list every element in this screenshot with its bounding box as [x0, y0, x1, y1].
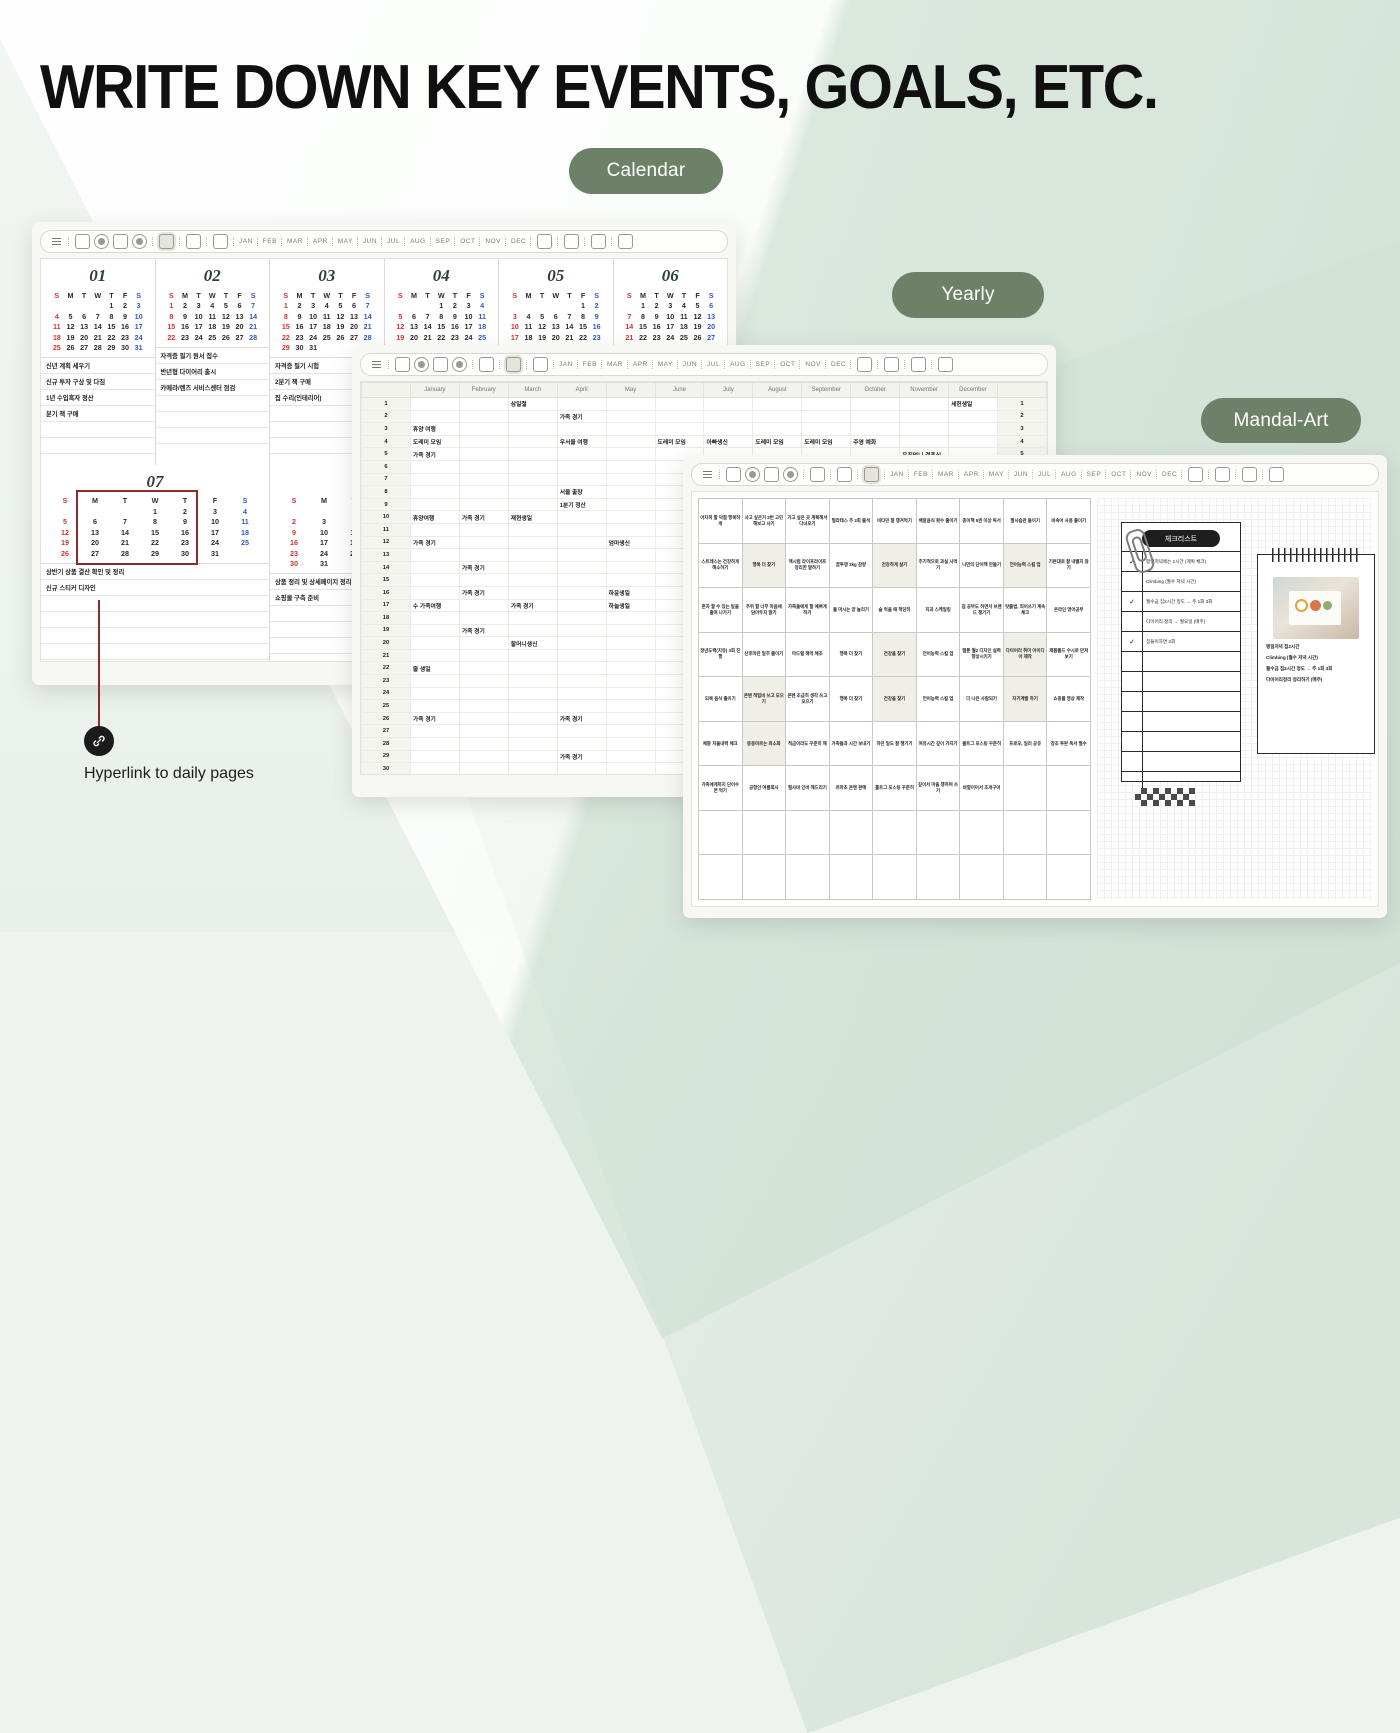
mandal-cell[interactable] — [830, 855, 874, 900]
yearly-cell[interactable]: 가족 경기 — [410, 712, 459, 725]
calendar-day[interactable] — [64, 301, 78, 312]
calendar-day[interactable]: 3 — [192, 301, 206, 312]
mandal-cell[interactable] — [786, 855, 830, 900]
checklist-checkmark[interactable]: ✓ — [1122, 592, 1143, 611]
yearly-cell[interactable] — [459, 523, 508, 536]
calendar-day[interactable]: 23 — [170, 538, 200, 549]
calendar-note-row[interactable] — [156, 412, 270, 428]
calendar-day[interactable]: 20 — [80, 538, 110, 549]
calendar-day[interactable]: 16 — [118, 322, 132, 333]
yearly-cell[interactable] — [557, 460, 606, 473]
calendar-day[interactable]: 19 — [394, 332, 408, 343]
yearly-cell[interactable] — [557, 675, 606, 688]
yearly-cell[interactable] — [459, 725, 508, 738]
calendar-day[interactable]: 1 — [165, 301, 179, 312]
calendar-day[interactable]: 28 — [246, 332, 260, 343]
checklist-checkmark[interactable] — [1122, 572, 1143, 591]
toolbar-month-may[interactable]: MAY — [657, 361, 674, 368]
calendar-day[interactable]: 21 — [110, 538, 140, 549]
calendar-note-row[interactable]: 카메라/렌즈 서비스센터 점검 — [156, 380, 270, 396]
calendar-day[interactable]: 17 — [663, 322, 677, 333]
calendar-day[interactable]: 13 — [233, 311, 247, 322]
calendar-day[interactable] — [563, 301, 577, 312]
calendar-day[interactable]: 2 — [279, 517, 309, 528]
yearly-cell[interactable] — [459, 486, 508, 499]
mandal-cell[interactable]: 탭툰 월2 디자인 실력 향상시키기 — [960, 633, 1004, 678]
yearly-cell[interactable]: 가족 경기 — [410, 448, 459, 461]
calendar-day[interactable]: 14 — [91, 322, 105, 333]
check-square-icon[interactable] — [395, 357, 410, 372]
yearly-cell[interactable] — [459, 649, 508, 662]
calendar-day[interactable]: 7 — [246, 301, 260, 312]
mandal-cell[interactable]: 꿈투쟁 3kg 감량 — [830, 544, 874, 589]
mandal-cell[interactable]: 가족들과 시간 보내기 — [830, 722, 874, 767]
yearly-cell[interactable] — [949, 423, 998, 436]
calendar-day[interactable]: 4 — [230, 506, 260, 517]
calendar-day[interactable]: 21 — [563, 332, 577, 343]
checklist-row[interactable] — [1122, 651, 1240, 671]
calendar-day[interactable]: 13 — [704, 311, 718, 322]
calendar-day[interactable] — [110, 506, 140, 517]
calendar-day[interactable]: 30 — [279, 559, 309, 570]
calendar-day[interactable] — [522, 301, 536, 312]
calendar-day[interactable]: 10 — [132, 311, 146, 322]
mandal-cell[interactable]: 스트레스는 건강하게 해소하기 — [699, 544, 743, 589]
toolbar-month-aug[interactable]: AUG — [409, 238, 427, 245]
calendar-day[interactable]: 2 — [118, 301, 132, 312]
yearly-cell[interactable] — [557, 473, 606, 486]
mandal-cell[interactable]: 가족들에게 할 예쁘게 하기 — [786, 588, 830, 633]
calendar-day[interactable]: 6 — [407, 311, 421, 322]
checklist-row[interactable] — [1122, 671, 1240, 691]
trash-icon[interactable] — [1269, 467, 1284, 482]
calendar-day[interactable]: 19 — [691, 322, 705, 333]
calendar-day[interactable]: 5 — [394, 311, 408, 322]
yearly-cell[interactable] — [459, 435, 508, 448]
calendar-day[interactable]: 30 — [170, 548, 200, 559]
checklist-row[interactable]: 다이어리 정리 → 월요일 (매주) — [1122, 611, 1240, 631]
calendar-day[interactable]: 24 — [200, 538, 230, 549]
yearly-cell[interactable] — [508, 574, 557, 587]
calendar-day[interactable]: 31 — [132, 343, 146, 354]
calendar-day[interactable]: 2 — [650, 301, 664, 312]
calendar-day[interactable]: 4 — [475, 301, 489, 312]
calendar-day[interactable]: 18 — [50, 332, 64, 343]
yearly-cell[interactable] — [606, 750, 655, 763]
calendar-day[interactable]: 10 — [306, 311, 320, 322]
yearly-cell[interactable] — [508, 410, 557, 423]
mandal-cell[interactable]: 행복 더 찾기 — [830, 633, 874, 678]
mandal-cell[interactable] — [960, 855, 1004, 900]
toolbar-month-may[interactable]: MAY — [337, 238, 354, 245]
calendar-day[interactable]: 5 — [535, 311, 549, 322]
yearly-cell[interactable] — [459, 410, 508, 423]
yearly-cell[interactable] — [410, 473, 459, 486]
calendar-day[interactable]: 3 — [309, 517, 339, 528]
share-icon[interactable] — [911, 357, 926, 372]
yearly-cell[interactable] — [704, 423, 753, 436]
note-icon[interactable] — [837, 467, 852, 482]
yearly-cell[interactable]: 가족 경기 — [508, 599, 557, 612]
calendar-note-row[interactable]: 자격증 필기 원서 접수 — [156, 348, 270, 364]
mandal-cell[interactable]: 온라인 영어공부 — [1047, 588, 1091, 633]
yearly-cell[interactable]: 가족 경기 — [459, 511, 508, 524]
calendar-day[interactable]: 21 — [91, 332, 105, 343]
yearly-cell[interactable]: 가족 경기 — [410, 536, 459, 549]
yearly-cell[interactable] — [851, 410, 900, 423]
mandal-cell[interactable]: 건강하게 살기 — [873, 544, 917, 589]
bag-icon[interactable] — [113, 234, 128, 249]
yearly-cell[interactable] — [459, 473, 508, 486]
yearly-cell[interactable] — [557, 536, 606, 549]
duplicate-icon[interactable] — [537, 234, 552, 249]
mandal-cell[interactable]: 언어능력 스킬 업 — [1004, 544, 1048, 589]
calendar-day[interactable]: 1 — [279, 301, 293, 312]
yearly-cell[interactable] — [410, 738, 459, 751]
toolbar-month-dec[interactable]: DEC — [830, 361, 847, 368]
toolbar-month-jan[interactable]: JAN — [558, 361, 574, 368]
check-square-icon[interactable] — [726, 467, 741, 482]
mandal-cell[interactable] — [786, 811, 830, 856]
yearly-cell[interactable] — [900, 410, 949, 423]
calendar-note-row[interactable]: 1년 수입흑자 정산 — [41, 390, 155, 406]
calendar-day[interactable]: 21 — [421, 332, 435, 343]
calendar-day[interactable]: 15 — [140, 527, 170, 538]
calendar-day[interactable]: 3 — [200, 506, 230, 517]
yearly-cell[interactable] — [459, 599, 508, 612]
mandal-art-document[interactable]: JANFEBMARAPRMAYJUNJULAUGSEPOCTNOVDEC 어차피… — [683, 455, 1387, 918]
calendar-day[interactable]: 24 — [462, 332, 476, 343]
yearly-cell[interactable] — [655, 423, 704, 436]
calendar-day[interactable]: 1 — [636, 301, 650, 312]
share-icon[interactable] — [591, 234, 606, 249]
mandal-cell[interactable] — [873, 855, 917, 900]
calendar-note-row[interactable] — [156, 428, 270, 444]
calendar-day[interactable]: 21 — [623, 332, 637, 343]
mandal-cell[interactable] — [1004, 811, 1048, 856]
yearly-cell[interactable] — [900, 423, 949, 436]
yearly-cell[interactable]: 1분기 정산 — [557, 498, 606, 511]
yearly-cell[interactable] — [508, 486, 557, 499]
calendar-day[interactable]: 4 — [677, 301, 691, 312]
calendar-day[interactable]: 22 — [140, 538, 170, 549]
calendar-day[interactable]: 18 — [677, 322, 691, 333]
calendar-day[interactable]: 9 — [170, 517, 200, 528]
checklist-checkmark[interactable] — [1122, 732, 1143, 751]
calendar-day[interactable]: 19 — [50, 538, 80, 549]
check-square-icon[interactable] — [75, 234, 90, 249]
calendar-icon[interactable] — [159, 234, 174, 249]
calendar-day[interactable]: 19 — [334, 322, 348, 333]
mandal-cell[interactable]: 건강을 찾기 — [873, 633, 917, 678]
yearly-cell[interactable]: 가족 경기 — [557, 712, 606, 725]
mandal-cell[interactable]: 행복 더 찾기 — [743, 544, 787, 589]
calendar-day[interactable]: 10 — [663, 311, 677, 322]
calendar-note-row[interactable]: 상반기 상품 결산 확인 및 정리 — [41, 564, 269, 580]
calendar-day[interactable]: 11 — [205, 311, 219, 322]
calendar-day[interactable]: 24 — [663, 332, 677, 343]
toolbar-month-sep[interactable]: SEP — [435, 238, 452, 245]
yearly-cell[interactable] — [753, 398, 802, 411]
toolbar-month-aug[interactable]: AUG — [1060, 471, 1078, 478]
calendar-day[interactable]: 16 — [590, 322, 604, 333]
calendar-day[interactable]: 6 — [77, 311, 91, 322]
yearly-cell[interactable] — [900, 435, 949, 448]
yearly-cell[interactable]: 세헌생일 — [949, 398, 998, 411]
yearly-cell[interactable] — [606, 687, 655, 700]
calendar-day[interactable]: 5 — [691, 301, 705, 312]
photo-note-card[interactable]: 평일저녁 집2시간Climbing (월수 저녁 시간)월수금 집2시간 정도 … — [1257, 554, 1375, 754]
yearly-cell[interactable] — [606, 523, 655, 536]
calendar-day[interactable]: 25 — [677, 332, 691, 343]
yearly-cell[interactable] — [410, 398, 459, 411]
yearly-cell[interactable]: 가족 경기 — [459, 586, 508, 599]
mandal-cell[interactable]: 비속어 사용 줄이기 — [1047, 499, 1091, 544]
yearly-cell[interactable] — [704, 410, 753, 423]
yearly-cell[interactable] — [557, 738, 606, 751]
yearly-cell[interactable] — [508, 763, 557, 775]
calendar-day[interactable]: 15 — [279, 322, 293, 333]
toolbar-month-apr[interactable]: APR — [312, 238, 329, 245]
calendar-day[interactable]: 13 — [347, 311, 361, 322]
toolbar-month-jul[interactable]: JUL — [1037, 471, 1052, 478]
trash-icon[interactable] — [618, 234, 633, 249]
calendar-day[interactable]: 20 — [77, 332, 91, 343]
yearly-cell[interactable] — [606, 423, 655, 436]
calendar-day[interactable]: 15 — [636, 322, 650, 333]
calendar-day[interactable]: 1 — [576, 301, 590, 312]
calendar-day[interactable]: 22 — [105, 332, 119, 343]
calendar-day[interactable]: 25 — [320, 332, 334, 343]
calendar-day[interactable]: 1 — [434, 301, 448, 312]
calendar-day[interactable]: 16 — [293, 322, 307, 333]
note-icon[interactable] — [186, 234, 201, 249]
toolbar-month-apr[interactable]: APR — [632, 361, 649, 368]
mandal-cell[interactable]: 탓줄법, 띄어쓰기 계속 체크 — [1004, 588, 1048, 633]
calendar-day[interactable]: 7 — [421, 311, 435, 322]
calendar-day[interactable]: 3 — [306, 301, 320, 312]
calendar-day[interactable]: 17 — [462, 322, 476, 333]
calendar-day[interactable]: 11 — [320, 311, 334, 322]
calendar-note-row[interactable]: 신규 스티커 디자인 — [41, 580, 269, 596]
mandal-cell[interactable]: 마드럴 해먹 체조 — [786, 633, 830, 678]
calendar-day[interactable]: 6 — [704, 301, 718, 312]
yearly-cell[interactable] — [851, 423, 900, 436]
yearly-toolbar[interactable]: JANFEBMARAPRMAYJUNJULAUGSEPOCTNOVDEC — [360, 353, 1048, 376]
toolbar-month-may[interactable]: MAY — [988, 471, 1005, 478]
yearly-cell[interactable]: 아빠생신 — [704, 435, 753, 448]
calendar-day[interactable]: 26 — [691, 332, 705, 343]
calendar-day[interactable]: 7 — [361, 301, 375, 312]
calendar-day[interactable] — [309, 506, 339, 517]
note-icon[interactable] — [506, 357, 521, 372]
calendar-day[interactable]: 13 — [407, 322, 421, 333]
calendar-day[interactable] — [77, 301, 91, 312]
mandal-cell[interactable]: 깊어서 마을 챙하여 쓰기 — [917, 766, 961, 811]
menu-icon[interactable] — [50, 235, 63, 248]
yearly-cell[interactable] — [606, 738, 655, 751]
yearly-cell[interactable] — [508, 498, 557, 511]
yearly-cell[interactable]: 휴양 여행 — [410, 423, 459, 436]
yearly-cell[interactable] — [459, 763, 508, 775]
yearly-cell[interactable] — [557, 612, 606, 625]
yearly-cell[interactable] — [410, 725, 459, 738]
calendar-day[interactable]: 24 — [192, 332, 206, 343]
calendar-day[interactable]: 15 — [576, 322, 590, 333]
mandal-cell[interactable]: 혼자 할 수 있는 일을 줄여 나가기 — [699, 588, 743, 633]
yearly-cell[interactable] — [606, 574, 655, 587]
calendar-day[interactable]: 26 — [50, 548, 80, 559]
calendar-day[interactable]: 30 — [293, 343, 307, 354]
calendar-day[interactable]: 27 — [347, 332, 361, 343]
calendar-day[interactable]: 11 — [475, 311, 489, 322]
yearly-cell[interactable] — [508, 473, 557, 486]
toolbar-month-jan[interactable]: JAN — [238, 238, 254, 245]
yearly-cell[interactable] — [508, 586, 557, 599]
mandal-cell[interactable]: 주위 할 너무 마음에 담아두지 말기 — [743, 588, 787, 633]
toolbar-month-jun[interactable]: JUN — [362, 238, 378, 245]
calendar-day[interactable]: 20 — [407, 332, 421, 343]
mandal-cell[interactable]: 필라테스 주 2회 출석 — [830, 499, 874, 544]
calendar-day[interactable] — [320, 343, 334, 354]
mandal-cell[interactable]: 여유시간 깊이 가지기 — [917, 722, 961, 767]
calendar-day[interactable]: 3 — [462, 301, 476, 312]
comment-icon[interactable] — [884, 357, 899, 372]
mandal-cell[interactable] — [917, 855, 961, 900]
calendar-day[interactable]: 16 — [170, 527, 200, 538]
calendar-day[interactable]: 10 — [508, 322, 522, 333]
checklist-row[interactable] — [1122, 731, 1240, 751]
calendar-day[interactable] — [80, 506, 110, 517]
mandal-cell[interactable]: 종이책 5권 이상 독서 — [960, 499, 1004, 544]
mandal-cell[interactable]: 물 마시는 양 늘리기 — [830, 588, 874, 633]
calendar-day[interactable]: 25 — [230, 538, 260, 549]
yearly-cell[interactable] — [557, 599, 606, 612]
calendar-day[interactable]: 9 — [650, 311, 664, 322]
yearly-cell[interactable] — [508, 536, 557, 549]
yearly-cell[interactable] — [557, 523, 606, 536]
calendar-day[interactable]: 18 — [522, 332, 536, 343]
yearly-cell[interactable] — [606, 549, 655, 562]
calendar-day[interactable]: 17 — [309, 538, 339, 549]
yearly-cell[interactable] — [557, 586, 606, 599]
calendar-note-row[interactable]: 분기 책 구매 — [41, 406, 155, 422]
mandal-cell[interactable]: 액시럼 라이프라이프 정리한 말하기 — [786, 544, 830, 589]
toolbar-month-aug[interactable]: AUG — [729, 361, 747, 368]
target-icon[interactable] — [132, 234, 147, 249]
calendar-note-row[interactable] — [41, 644, 269, 660]
calendar-day[interactable]: 9 — [178, 311, 192, 322]
calendar-day[interactable]: 14 — [110, 527, 140, 538]
yearly-cell[interactable]: 도레미 모임 — [410, 435, 459, 448]
checklist-card[interactable]: 체크리스트 ✓ 평일저녁에는 1시간 (계획 체크) Climbing (월수 … — [1121, 522, 1241, 782]
calendar-day[interactable]: 3 — [132, 301, 146, 312]
mandal-cell[interactable] — [1004, 855, 1048, 900]
checklist-row[interactable] — [1122, 751, 1240, 771]
mandal-cell[interactable]: 콘텐 적립비 쓰고 모으기 — [743, 677, 787, 722]
calendar-day[interactable]: 23 — [118, 332, 132, 343]
yearly-cell[interactable] — [606, 624, 655, 637]
calendar-day[interactable] — [50, 301, 64, 312]
mandal-cell[interactable] — [1047, 766, 1091, 811]
toolbar-month-nov[interactable]: NOV — [804, 361, 822, 368]
yearly-cell[interactable] — [704, 398, 753, 411]
mandal-cell[interactable]: 정년도력(치유) 3회 진행 — [699, 633, 743, 678]
share-icon[interactable] — [1242, 467, 1257, 482]
checklist-checkmark[interactable]: ✓ — [1122, 632, 1143, 651]
yearly-cell[interactable] — [508, 423, 557, 436]
yearly-cell[interactable] — [655, 410, 704, 423]
calendar-day[interactable]: 31 — [200, 548, 230, 559]
calendar-day[interactable]: 13 — [77, 322, 91, 333]
toolbar-month-apr[interactable]: APR — [963, 471, 980, 478]
calendar-day[interactable]: 27 — [704, 332, 718, 343]
calendar-note-row[interactable] — [41, 596, 269, 612]
calendar-day[interactable]: 14 — [361, 311, 375, 322]
calendar-day[interactable]: 14 — [246, 311, 260, 322]
toolbar-month-nov[interactable]: NOV — [1135, 471, 1153, 478]
mandal-cell[interactable] — [873, 811, 917, 856]
calendar-day[interactable]: 24 — [306, 332, 320, 343]
mandal-cell[interactable]: 르마초 콘텐 판매 — [830, 766, 874, 811]
calendar-day[interactable]: 6 — [549, 311, 563, 322]
duplicate-icon[interactable] — [857, 357, 872, 372]
mandal-cell[interactable]: 필사비 인바 해드리기 — [786, 766, 830, 811]
yearly-cell[interactable] — [606, 675, 655, 688]
yearly-cell[interactable] — [606, 473, 655, 486]
calendar-day[interactable]: 12 — [334, 311, 348, 322]
calendar-day[interactable]: 8 — [140, 517, 170, 528]
yearly-cell[interactable] — [606, 612, 655, 625]
yearly-cell[interactable] — [459, 712, 508, 725]
calendar-day[interactable] — [394, 301, 408, 312]
calendar-day[interactable]: 2 — [448, 301, 462, 312]
mandal-cell[interactable]: 자기계발 하기 — [1004, 677, 1048, 722]
yearly-cell[interactable] — [900, 398, 949, 411]
calendar-day[interactable]: 25 — [50, 343, 64, 354]
toolbar-month-oct[interactable]: OCT — [459, 238, 476, 245]
mandal-cell[interactable]: 제품폴드 수시로 만져보기 — [1047, 633, 1091, 678]
calendar-day[interactable]: 30 — [118, 343, 132, 354]
calendar-day[interactable]: 8 — [576, 311, 590, 322]
checklist-row[interactable] — [1122, 691, 1240, 711]
calendar-day[interactable]: 3 — [508, 311, 522, 322]
yearly-cell[interactable]: 가족 경기 — [557, 410, 606, 423]
yearly-cell[interactable] — [606, 511, 655, 524]
yearly-cell[interactable] — [949, 410, 998, 423]
calendar-day[interactable]: 1 — [140, 506, 170, 517]
yearly-cell[interactable]: 재현생일 — [508, 511, 557, 524]
toolbar-month-jul[interactable]: JUL — [706, 361, 721, 368]
calendar-day[interactable]: 13 — [80, 527, 110, 538]
toolbar-month-jan[interactable]: JAN — [889, 471, 905, 478]
yearly-cell[interactable] — [508, 750, 557, 763]
checklist-checkmark[interactable] — [1122, 612, 1143, 631]
calendar-day[interactable]: 25 — [205, 332, 219, 343]
calendar-day[interactable]: 16 — [448, 322, 462, 333]
yearly-cell[interactable] — [410, 637, 459, 650]
calendar-day[interactable]: 7 — [110, 517, 140, 528]
yearly-cell[interactable] — [557, 398, 606, 411]
yearly-cell[interactable]: 주영 예화 — [851, 435, 900, 448]
yearly-cell[interactable]: 가족 경기 — [459, 561, 508, 574]
toolbar-month-feb[interactable]: FEB — [262, 238, 278, 245]
calendar-day[interactable]: 20 — [704, 322, 718, 333]
mandal-cell[interactable]: 어차피 할 덕질 행복하게 — [699, 499, 743, 544]
calendar-day[interactable]: 23 — [650, 332, 664, 343]
toolbar-month-mar[interactable]: MAR — [286, 238, 304, 245]
mandal-cell[interactable]: 체중 저울내력 체크 — [699, 722, 743, 767]
